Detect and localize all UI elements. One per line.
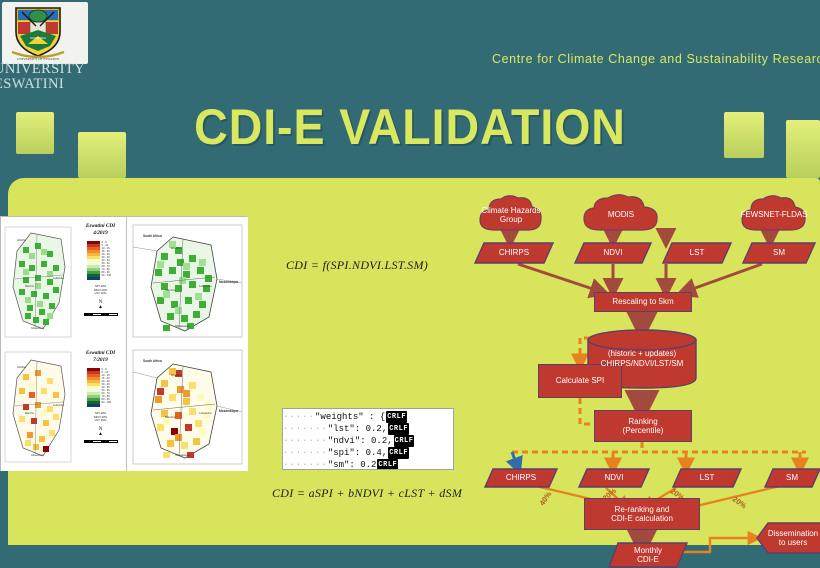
scale-bar-july <box>84 440 118 443</box>
source-modis[interactable]: MODIS <box>580 194 662 236</box>
dataset-label: CHIRPS <box>506 473 536 483</box>
map-left-april: Hhohho Manzini Lubombo Shiselweni <box>1 217 75 344</box>
source-label: Climate Hazards Group <box>476 206 546 225</box>
north-arrow-july: N▲ <box>75 427 126 437</box>
legend-note-july: SPI 40% NDVI 20% LST 20% <box>75 412 126 423</box>
dataset-label: LST <box>700 473 715 483</box>
svg-text:Shiselweni: Shiselweni <box>31 326 44 330</box>
north-arrow-april: N▲ <box>75 300 126 310</box>
dataset-label: SM <box>773 248 785 258</box>
ranking-node[interactable]: Ranking (Percentile) <box>594 410 692 442</box>
code-line: ·······"lst": 0.2,CRLF <box>283 423 453 435</box>
eswatini-map-orange-right: South Africa Mozambique Hhohho Manzini L… <box>127 344 248 471</box>
eswatini-map-green-right: South Africa Mozambique Hhohho Manzini L… <box>127 217 248 344</box>
map-left-july: Hhohho Manzini Lubombo Shiselweni <box>1 344 75 471</box>
map-row-july: Hhohho Manzini Lubombo Shiselweni Eswati… <box>1 344 248 471</box>
dissemination-line2: to users <box>779 538 807 548</box>
svg-text:Lubombo: Lubombo <box>53 276 64 280</box>
dataset-ndvi-bottom[interactable]: NDVI <box>578 468 650 488</box>
legend-title-july-line1: Eswatini CDI <box>75 350 126 356</box>
dataset-ndvi-top[interactable]: NDVI <box>574 242 652 264</box>
formula-cdi-function: CDI = f(SPI.NDVI.LST.SM) <box>286 258 428 273</box>
rescaling-node[interactable]: Rescaling to 5km <box>594 292 692 312</box>
svg-text:Hhohho: Hhohho <box>17 365 27 369</box>
dataset-label: LST <box>690 248 705 258</box>
svg-text:Shiselweni: Shiselweni <box>175 453 190 457</box>
dataset-label: CHIRPS <box>499 248 529 258</box>
svg-text:Mozambique: Mozambique <box>219 409 239 413</box>
code-line: ·····"weights" : {CRLF <box>283 411 453 423</box>
legend-note-april: SPI 40% NDVI 20% LST 20% <box>75 285 126 296</box>
svg-text:Manzini: Manzini <box>165 288 176 292</box>
code-line: ·······"spi": 0.4,CRLF <box>283 447 453 459</box>
dataset-sm-bottom[interactable]: SM <box>764 468 820 488</box>
eswatini-map-green-left: Hhohho Manzini Lubombo Shiselweni <box>1 217 75 344</box>
source-climate-hazards-group[interactable]: Climate Hazards Group <box>476 194 546 236</box>
legend-title-april-line2: 4/2019 <box>75 230 126 236</box>
database-text: (historic + updates) CHIRPS/NDVI/LST/SM <box>586 328 698 390</box>
dataset-lst-top[interactable]: LST <box>662 242 732 264</box>
code-line: ·······"sm": 0.2CRLF <box>283 459 453 470</box>
dissemination-line1: Dissemination <box>768 529 818 539</box>
svg-text:Mozambique: Mozambique <box>219 280 239 284</box>
map-right-april: South Africa Mozambique Hhohho Manzini L… <box>127 217 248 344</box>
eswatini-map-orange-left: Hhohho Manzini Lubombo Shiselweni <box>1 344 75 471</box>
university-name-line1: UNIVERSITY <box>0 62 98 77</box>
map-figure: Hhohho Manzini Lubombo Shiselweni Eswati… <box>0 216 247 471</box>
svg-text:Shiselweni: Shiselweni <box>175 324 190 328</box>
legend-ramp-april: 0 - 5 5 - 10 10 - 15 15 - 20 20 - 30 30 … <box>87 241 115 280</box>
svg-text:Manzini: Manzini <box>165 415 176 419</box>
map-right-july: South Africa Mozambique Hhohho Manzini L… <box>127 344 248 471</box>
legend-title-april-line1: Eswatini CDI <box>75 223 126 229</box>
source-label: MODIS <box>608 210 634 220</box>
dataset-chirps-top[interactable]: CHIRPS <box>474 242 554 264</box>
page-header: UNIVERSITY OF ESWATINI UNIVERSITY ESWATI… <box>0 0 820 178</box>
svg-text:Lubombo: Lubombo <box>199 284 212 288</box>
weights-code-block: ·····"weights" : {CRLF ·······"lst": 0.2… <box>282 408 454 470</box>
dataset-label: SM <box>786 473 798 483</box>
source-label: FEWSNET-FLDAS <box>740 210 807 220</box>
source-fewsnet-fldas[interactable]: FEWSNET-FLDAS <box>738 194 810 236</box>
database-line1: (historic + updates) <box>608 349 676 359</box>
map-row-april: Hhohho Manzini Lubombo Shiselweni Eswati… <box>1 217 248 344</box>
ranking-line1: Ranking <box>628 417 657 427</box>
dissemination-node[interactable]: Dissemination to users <box>756 522 820 554</box>
monthly-line1: Monthly <box>634 546 662 556</box>
formula-cdi-weighted: CDI = aSPI + bNDVI + cLST + dSM <box>272 486 462 501</box>
ranking-line2: (Percentile) <box>623 426 664 436</box>
monthly-line2: CDI-E <box>637 555 659 565</box>
monthly-cdie-node[interactable]: Monthly CDI-E <box>608 542 688 568</box>
svg-text:Hhohho: Hhohho <box>171 373 182 377</box>
dataset-sm-top[interactable]: SM <box>742 242 816 264</box>
dataset-lst-bottom[interactable]: LST <box>672 468 742 488</box>
university-name: UNIVERSITY ESWATINI <box>0 62 98 92</box>
university-name-line2: ESWATINI <box>0 77 98 92</box>
reranking-line1: Re-ranking and <box>615 505 670 515</box>
database-line2: CHIRPS/NDVI/LST/SM <box>601 359 684 369</box>
university-crest-icon: UNIVERSITY OF ESWATINI <box>2 2 88 64</box>
svg-text:South Africa: South Africa <box>143 359 162 363</box>
legend-ramp-july: 0 - 5 5 - 10 10 - 15 15 - 20 20 - 30 30 … <box>87 368 115 407</box>
svg-text:Hhohho: Hhohho <box>171 246 182 250</box>
reranking-node[interactable]: Re-ranking and CDI-E calculation <box>584 498 700 530</box>
rescaling-label: Rescaling to 5km <box>612 297 673 307</box>
map-legend-april: Eswatini CDI 4/2019 0 - 5 5 - 10 10 - 15… <box>75 217 127 344</box>
page-title: CDI-E VALIDATION <box>29 100 792 154</box>
reranking-line2: CDI-E calculation <box>611 514 673 524</box>
svg-text:South Africa: South Africa <box>143 234 162 238</box>
svg-text:Manzini: Manzini <box>25 284 34 288</box>
legend-title-july-line2: 7/2019 <box>75 357 126 363</box>
svg-text:Hhohho: Hhohho <box>17 238 27 242</box>
database-node[interactable]: (historic + updates) CHIRPS/NDVI/LST/SM <box>586 328 698 390</box>
svg-text:Shiselweni: Shiselweni <box>31 453 44 457</box>
svg-text:Manzini: Manzini <box>25 411 34 415</box>
cdi-e-workflow-diagram: Climate Hazards Group MODIS FEWSNET-FLDA… <box>470 186 820 545</box>
svg-text:Lubombo: Lubombo <box>199 411 212 415</box>
map-legend-july: Eswatini CDI 7/2019 0 - 5 5 - 10 10 - 15… <box>75 344 127 471</box>
university-logo: UNIVERSITY OF ESWATINI <box>2 2 88 64</box>
centre-title: Centre for Climate Change and Sustainabi… <box>492 52 820 66</box>
scale-bar-april <box>84 313 118 316</box>
dataset-label: NDVI <box>604 473 623 483</box>
svg-text:Lubombo: Lubombo <box>53 403 64 407</box>
code-line: ·······"ndvi": 0.2,CRLF <box>283 435 453 447</box>
dataset-chirps-bottom[interactable]: CHIRPS <box>484 468 558 488</box>
dataset-label: NDVI <box>603 248 622 258</box>
